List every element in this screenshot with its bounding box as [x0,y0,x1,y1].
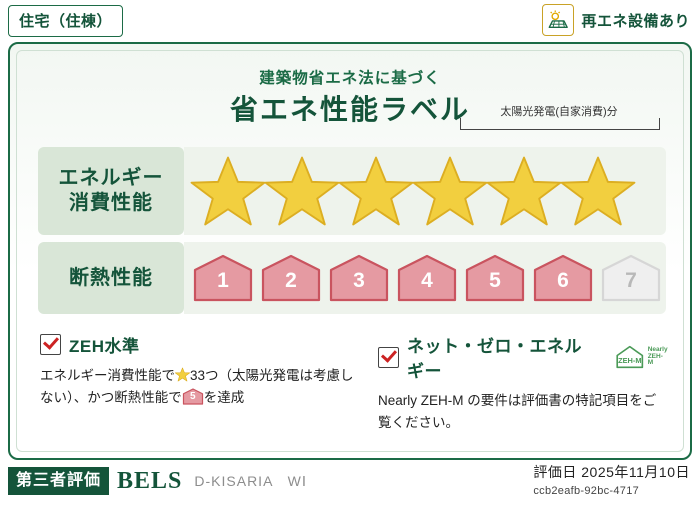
note-nze-body: Nearly ZEH-M の要件は評価書の特記項目をご覧ください。 [378,390,668,433]
renewable-equipment-label: 再エネ設備あり [581,10,690,31]
insulation-chip-inline-label: 5 [182,388,204,405]
star-icon [264,154,340,228]
bels-logo-text: BELS [117,468,182,495]
bels-block: 第三者評価 BELS D-KISARIA WⅠ [8,464,307,498]
evaluation-id: ccb2eafb-92bc-4717 [533,485,690,497]
insulation-chip-label: 4 [396,253,458,303]
zeh-m-logo-icon: ZEH-M Nearly ZEH-M [615,344,668,370]
house-type-tag: 住宅（住棟） [8,5,123,37]
zeh-m-logo-text: Nearly ZEH-M [648,347,668,367]
renewable-equipment-badge: 再エネ設備あり [542,4,690,36]
star-icon [412,154,488,228]
insulation-chip-4: 4 [396,253,458,303]
star-icon [486,154,562,228]
note-zeh-body-prefix: エネルギー消費性能で [40,368,175,383]
notes-area: ZEH水準 エネルギー消費性能で33つ（太陽光発電は考慮しない）、かつ断熱性能で… [40,332,668,433]
zeh-m-logo-sub2: ZEH-M [648,353,663,367]
star-icon [190,154,266,228]
note-net-zero-energy: ネット・ゼロ・エネルギー ZEH-M Nearly ZEH-M Nearly Z… [354,332,668,433]
insulation-chip-label: 2 [260,253,322,303]
insulation-performance-label: 断熱性能 [38,242,184,314]
insulation-chip-label: 7 [600,253,662,303]
note-zeh-body-suffix: を達成 [204,390,245,405]
energy-label-line1: エネルギー [59,166,164,191]
energy-performance-row: エネルギー 消費性能 太陽光発電(自家消費)分 [38,147,666,235]
insulation-chip-3: 3 [328,253,390,303]
note-zeh-body: エネルギー消費性能で33つ（太陽光発電は考慮しない）、かつ断熱性能で5を達成 [40,365,354,408]
insulation-chip-inline: 5 [182,388,204,405]
note-nze-heading: ネット・ゼロ・エネルギー ZEH-M Nearly ZEH-M [378,332,668,382]
note-zeh-title: ZEH水準 [69,332,140,357]
insulation-chip-label: 3 [328,253,390,303]
bels-energy-label: 住宅（住棟） 再エネ設備あり 建築物省エネ法に基づく 省 [0,0,700,522]
header-row: 住宅（住棟） 再エネ設備あり [0,0,700,42]
note-zeh-star-count: 3 [190,368,198,383]
note-zeh-standard: ZEH水準 エネルギー消費性能で33つ（太陽光発電は考慮しない）、かつ断熱性能で… [40,332,354,433]
evaluation-date: 評価日 2025年11月10日 [533,462,690,482]
insulation-chip-label: 1 [192,253,254,303]
insulation-chip-5: 5 [464,253,526,303]
svg-text:ZEH-M: ZEH-M [618,356,641,365]
solar-bracket [460,118,660,130]
check-icon [40,334,61,355]
third-party-eval-badge: 第三者評価 [8,467,109,495]
check-icon [378,347,399,368]
solar-generation-note: 太陽光発電(自家消費)分 [452,103,666,119]
insulation-chip-7: 7 [600,253,662,303]
star-icon [560,154,636,228]
star-icon [338,154,414,228]
footer: 第三者評価 BELS D-KISARIA WⅠ 評価日 2025年11月10日 … [8,462,692,514]
insulation-chip-1: 1 [192,253,254,303]
insulation-chip-6: 6 [532,253,594,303]
insulation-chip-label: 5 [464,253,526,303]
star-rating [184,147,666,235]
note-nze-title: ネット・ゼロ・エネルギー [407,332,599,382]
insulation-chip-2: 2 [260,253,322,303]
insulation-chip-label: 6 [532,253,594,303]
insulation-performance-row: 断熱性能 1 2 [38,242,666,314]
panel-subtitle: 建築物省エネ法に基づく [10,66,690,88]
energy-performance-label: エネルギー 消費性能 [38,147,184,235]
building-code: D-KISARIA WⅠ [194,471,307,492]
energy-performance-stars-area: 太陽光発電(自家消費)分 [184,147,666,235]
insulation-label-text: 断熱性能 [69,266,153,291]
insulation-levels-area: 1 2 3 [184,242,666,314]
solar-panel-icon [542,4,574,36]
label-panel: 建築物省エネ法に基づく 省エネ性能ラベル エネルギー 消費性能 太陽光発電(自家… [8,42,692,460]
evaluation-info: 評価日 2025年11月10日 ccb2eafb-92bc-4717 [533,462,690,497]
star-icon [175,367,190,382]
energy-label-line2: 消費性能 [69,191,153,216]
note-zeh-heading: ZEH水準 [40,332,354,357]
insulation-level-chips: 1 2 3 [192,242,662,314]
